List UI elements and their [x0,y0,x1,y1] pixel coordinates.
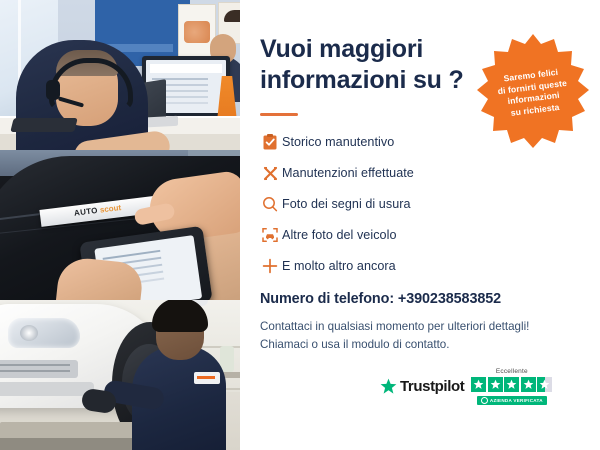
title-underline-divider [260,113,298,116]
contact-subtext-line-1: Contattaci in qualsiasi momento per ulte… [260,318,560,336]
trustpilot-widget[interactable]: Trustpilot Eccellente AZIENDA VERIFICATA [380,368,552,405]
list-item[interactable]: E molto altro ancora [258,252,508,280]
rating-label: Eccellente [496,368,528,375]
list-item[interactable]: Foto dei segni di usura [258,190,508,218]
arm [72,129,171,150]
headlight [8,318,80,348]
keyboard [10,118,77,132]
plus-icon [258,256,282,276]
hair [224,10,240,22]
content-panel: Vuoi maggiori informazioni su ? Saremo f… [240,0,600,450]
list-item[interactable]: Storico manutentivo [258,128,508,156]
trustpilot-brand-label: Trustpilot [400,378,464,395]
hair [152,300,208,332]
lower-bumper [0,382,94,396]
phone-line[interactable]: Numero di telefono: +390238583852 [260,291,501,307]
advertisement-card: Vuoi maggiori informazioni su ? Saremo f… [0,0,600,450]
feature-list: Storico manutentivo Manutenzioni effettu… [258,128,508,283]
phone-label: Numero di telefono: [260,291,394,307]
photo-wheel-inspection [0,300,240,450]
crossed-tools-icon [258,163,282,183]
star-half [537,377,552,392]
star-row [471,377,552,392]
star-filled [504,377,519,392]
clipboard-check-icon [258,132,282,152]
magnifier-icon [258,194,282,214]
list-item[interactable]: Manutenzioni effettuate [258,159,508,187]
headset-icon [474,32,496,50]
check-circle-icon [481,397,488,404]
list-item-label: Foto dei segni di usura [282,197,411,211]
photo-call-center [0,0,240,150]
contact-subtext-line-2: Chiamaci o usa il modulo di contatto. [260,336,560,354]
headline-line-1: Vuoi maggiori [260,34,490,65]
front-grille [0,360,78,378]
trustpilot-rating: Eccellente AZIENDA VERIFICATA [471,368,552,405]
list-item-label: Altre foto del veicolo [282,228,397,242]
mechanic [132,346,226,450]
list-item[interactable]: Altre foto del veicolo [258,221,508,249]
star-filled [471,377,486,392]
photo-column [0,0,240,450]
verified-company-badge: AZIENDA VERIFICATA [477,396,547,405]
car-frame-icon [258,225,282,245]
phone-number[interactable]: +390238583852 [398,291,501,307]
page-title: Vuoi maggiori informazioni su ? [260,34,490,95]
list-item-label: Manutenzioni effettuate [282,166,414,180]
list-item-label: Storico manutentivo [282,135,394,149]
uniform-logo [194,372,220,384]
photo-body-measurement [0,150,240,300]
list-item-label: E molto altro ancora [282,259,396,273]
star-filled [521,377,536,392]
lift-base [0,438,150,450]
trustpilot-star-icon [380,378,397,395]
verified-label: AZIENDA VERIFICATA [490,398,543,403]
contact-subtext: Contattaci in qualsiasi momento per ulte… [260,318,560,354]
headline-line-2: informazioni su ? [260,65,490,96]
badge-text: Saremo felici di fornirti queste informa… [485,65,582,122]
trustpilot-logo: Trustpilot [380,378,464,395]
star-filled [488,377,503,392]
